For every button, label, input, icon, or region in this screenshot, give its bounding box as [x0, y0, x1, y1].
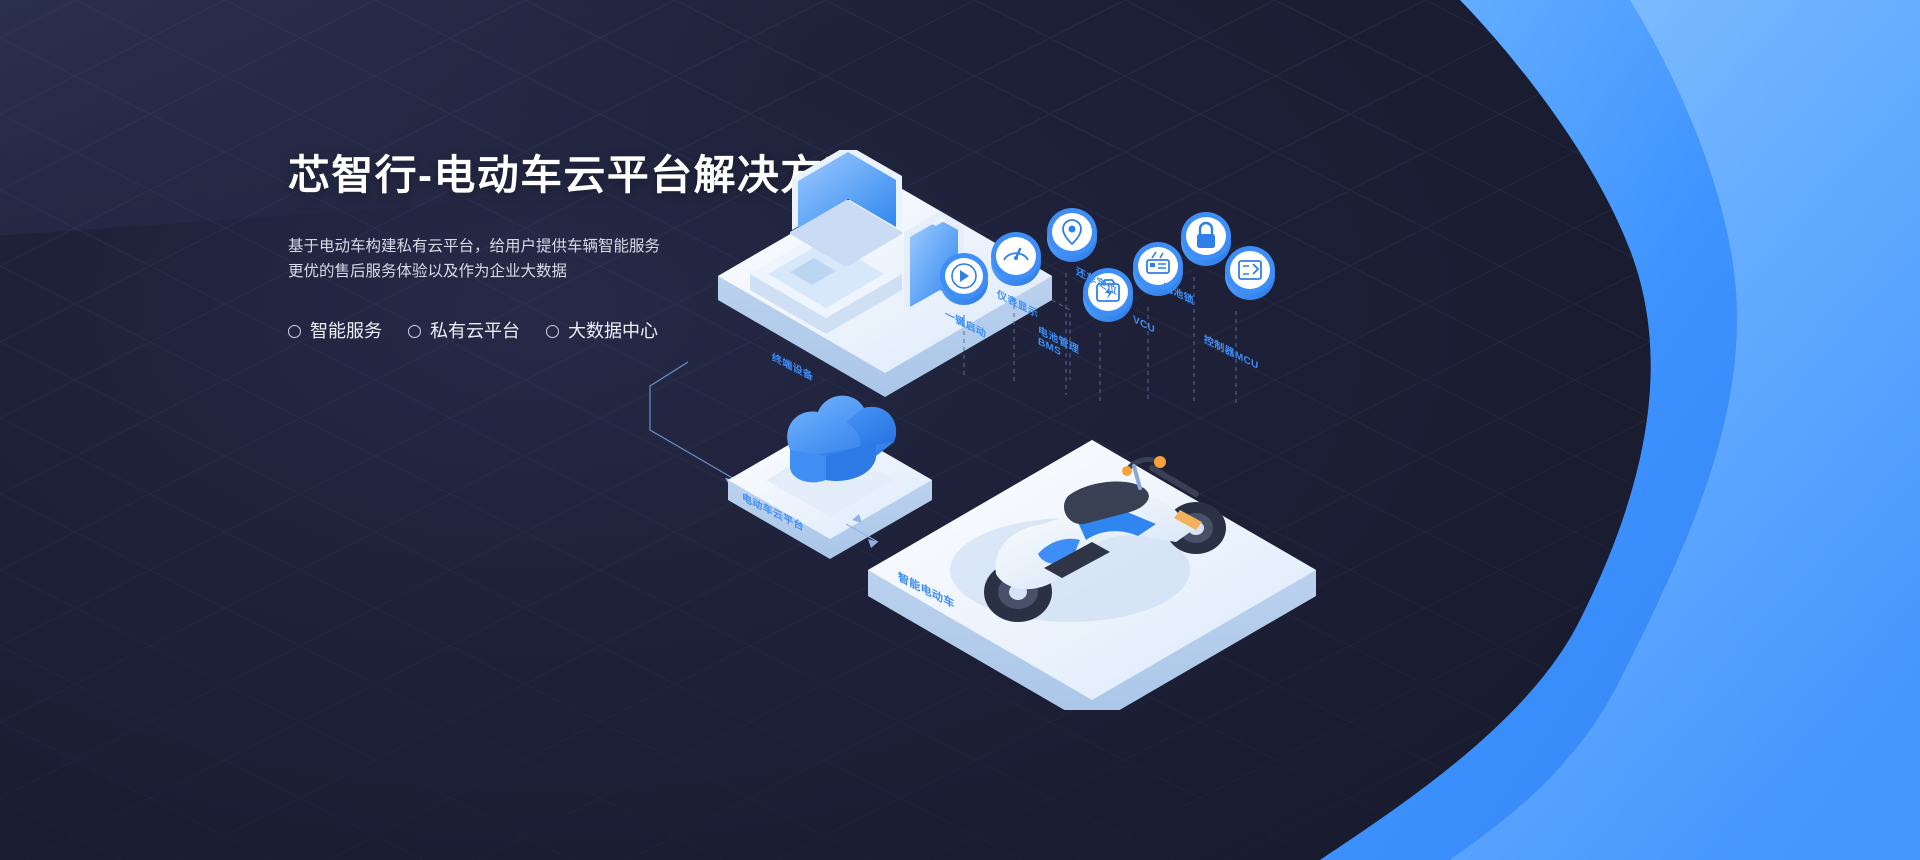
- disc-start: [940, 253, 988, 305]
- circle-bullet-icon: [546, 325, 559, 338]
- arrow-terminal-to-cloud: [650, 362, 736, 486]
- disc-mcu: [1225, 246, 1275, 300]
- feature-label: 私有云平台: [430, 320, 520, 342]
- feature-item-1: 私有云平台: [408, 320, 520, 342]
- feature-label: 智能服务: [310, 320, 382, 342]
- disc-lock: [1181, 212, 1231, 266]
- disc-dashboard: [991, 232, 1041, 286]
- circle-bullet-icon: [288, 325, 301, 338]
- scooter-platform-group: [868, 440, 1316, 710]
- feature-item-0: 智能服务: [288, 320, 382, 342]
- circle-bullet-icon: [408, 325, 421, 338]
- disc-locate: [1047, 208, 1097, 262]
- hero-banner: 芯智行-电动车云平台解决方案 基于电动车构建私有云平台，给用户提供车辆智能服务 …: [0, 0, 1920, 860]
- cloud-platform-group: [728, 396, 932, 559]
